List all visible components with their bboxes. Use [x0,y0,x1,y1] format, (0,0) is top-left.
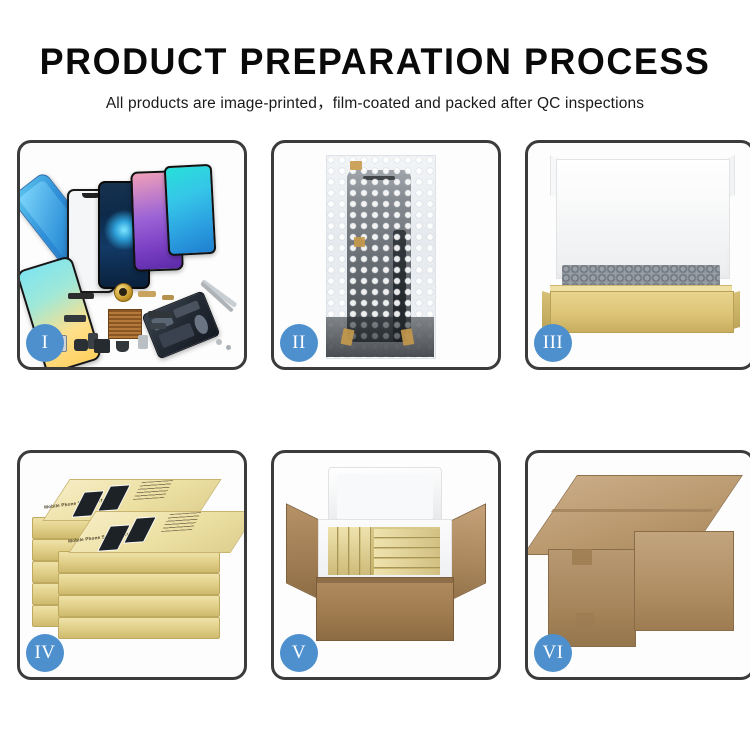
packed-box [350,527,360,575]
gold-bracket-part [162,295,174,300]
styrofoam-lid [328,467,442,527]
page-subtitle: All products are image-printed，film-coat… [0,95,750,113]
gold-connector-part [138,291,156,297]
step-badge-6: VI [534,634,572,672]
phone-screen-teal [164,164,217,256]
packed-box [374,569,440,575]
packed-box [374,529,440,538]
step-panel-4: Mobile Phone Spare Parts Mobile Phone Sp… [17,450,247,680]
kraft-box-front [550,291,734,333]
page-title: PRODUCT PREPARATION PROCESS [11,42,739,82]
step-badge-2: II [280,324,318,362]
packed-box [361,527,371,575]
packed-box [374,559,440,568]
carton-left-face [548,549,636,647]
taptic-engine-part [94,339,110,353]
page-header: PRODUCT PREPARATION PROCESS All products… [0,0,750,113]
carton-handle-tab [576,613,594,627]
flex-cable-part [68,293,94,299]
stacked-box [58,573,220,595]
process-step-grid: I II [0,140,750,686]
packed-box [339,527,349,575]
packed-yellow-boxes [328,527,440,575]
packed-box [328,527,338,575]
camera-ring-part [114,283,133,302]
step-panel-1: I [17,140,247,370]
tape-piece [354,237,365,247]
carton-body [316,577,454,641]
tape-piece [350,161,362,170]
stacked-box [58,595,220,617]
product-preparation-infographic: PRODUCT PREPARATION PROCESS All products… [0,0,750,750]
step-badge-1: I [26,324,64,362]
earpiece-part [116,341,129,352]
step-panel-2: II [271,140,501,370]
screw-part [226,345,231,350]
white-foam-lining [558,185,726,273]
antenna-flex-part [150,323,166,329]
stacked-box [58,617,220,639]
circuit-board-part [108,309,142,339]
carton-right-face [634,531,734,631]
step-panel-3: III [525,140,750,370]
sim-tray-part [138,335,148,349]
connector-strip-part [148,311,172,318]
ribbon-cable-part [64,315,86,322]
speaker-part [74,339,88,351]
screw-part [216,339,222,345]
printed-box-lid [68,511,247,553]
packed-box [374,549,440,558]
step-badge-3: III [534,324,572,362]
carton-tape-seam [551,509,713,512]
step-badge-5: V [280,634,318,672]
step-badge-4: IV [26,634,64,672]
stacked-box [58,551,220,573]
packed-box [374,539,440,548]
step-panel-5: V [271,450,501,680]
step-panel-6: VI [525,450,750,680]
carton-handle-tab [572,549,592,565]
